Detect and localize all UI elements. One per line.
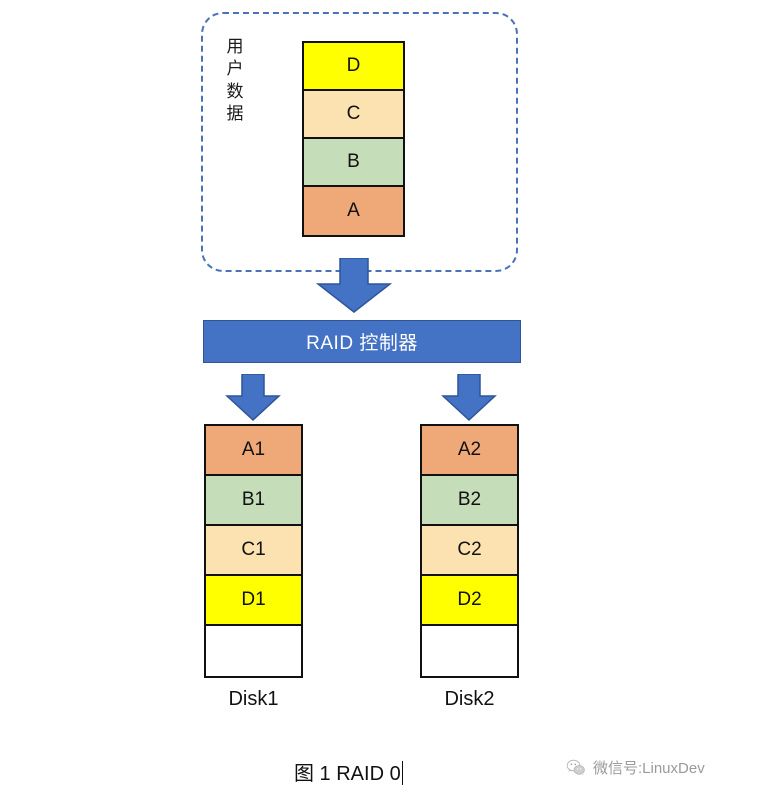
disk-stripe: D1 — [206, 576, 301, 626]
user-data-block-stack: D C B A — [302, 41, 405, 237]
user-data-label: 用 户 数 据 — [219, 36, 251, 126]
controller-to-disk2-arrow — [441, 374, 497, 422]
disk1-caption: Disk1 — [204, 688, 303, 711]
figure-caption-text: 图 1 RAID 0 — [294, 763, 401, 785]
disk-stripe-empty — [422, 626, 517, 676]
disk-stripe: A2 — [422, 426, 517, 476]
disk-stripe: C2 — [422, 526, 517, 576]
data-block: B — [304, 139, 403, 187]
disk-stripe: A1 — [206, 426, 301, 476]
text-caret — [402, 761, 403, 785]
data-block: C — [304, 91, 403, 139]
disk1-stack: A1 B1 C1 D1 — [204, 424, 303, 678]
disk-stripe: C1 — [206, 526, 301, 576]
raid-controller-label: RAID 控制器 — [306, 328, 418, 355]
disk2-stack: A2 B2 C2 D2 — [420, 424, 519, 678]
disk-stripe: B1 — [206, 476, 301, 526]
user-data-label-char-3: 数 — [219, 81, 251, 103]
controller-to-disk1-arrow — [225, 374, 281, 422]
disk-stripe: D2 — [422, 576, 517, 626]
disk-stripe: B2 — [422, 476, 517, 526]
watermark: 微信号:LinuxDev — [566, 757, 705, 778]
disk2-caption: Disk2 — [420, 688, 519, 711]
data-block: A — [304, 187, 403, 235]
wechat-icon — [566, 758, 586, 778]
user-data-label-char-2: 户 — [219, 58, 251, 80]
user-data-label-char-1: 用 — [219, 36, 251, 58]
figure-caption: 图 1 RAID 0 — [294, 757, 403, 786]
user-data-label-char-4: 据 — [219, 103, 251, 125]
disk-stripe-empty — [206, 626, 301, 676]
data-block: D — [304, 43, 403, 91]
user-data-to-controller-arrow — [316, 258, 392, 314]
watermark-text: 微信号:LinuxDev — [593, 757, 705, 778]
raid-controller-box: RAID 控制器 — [203, 320, 521, 363]
diagram-canvas: 用 户 数 据 D C B A RAID 控制器 A1 B1 C1 D1 Dis… — [0, 0, 784, 799]
